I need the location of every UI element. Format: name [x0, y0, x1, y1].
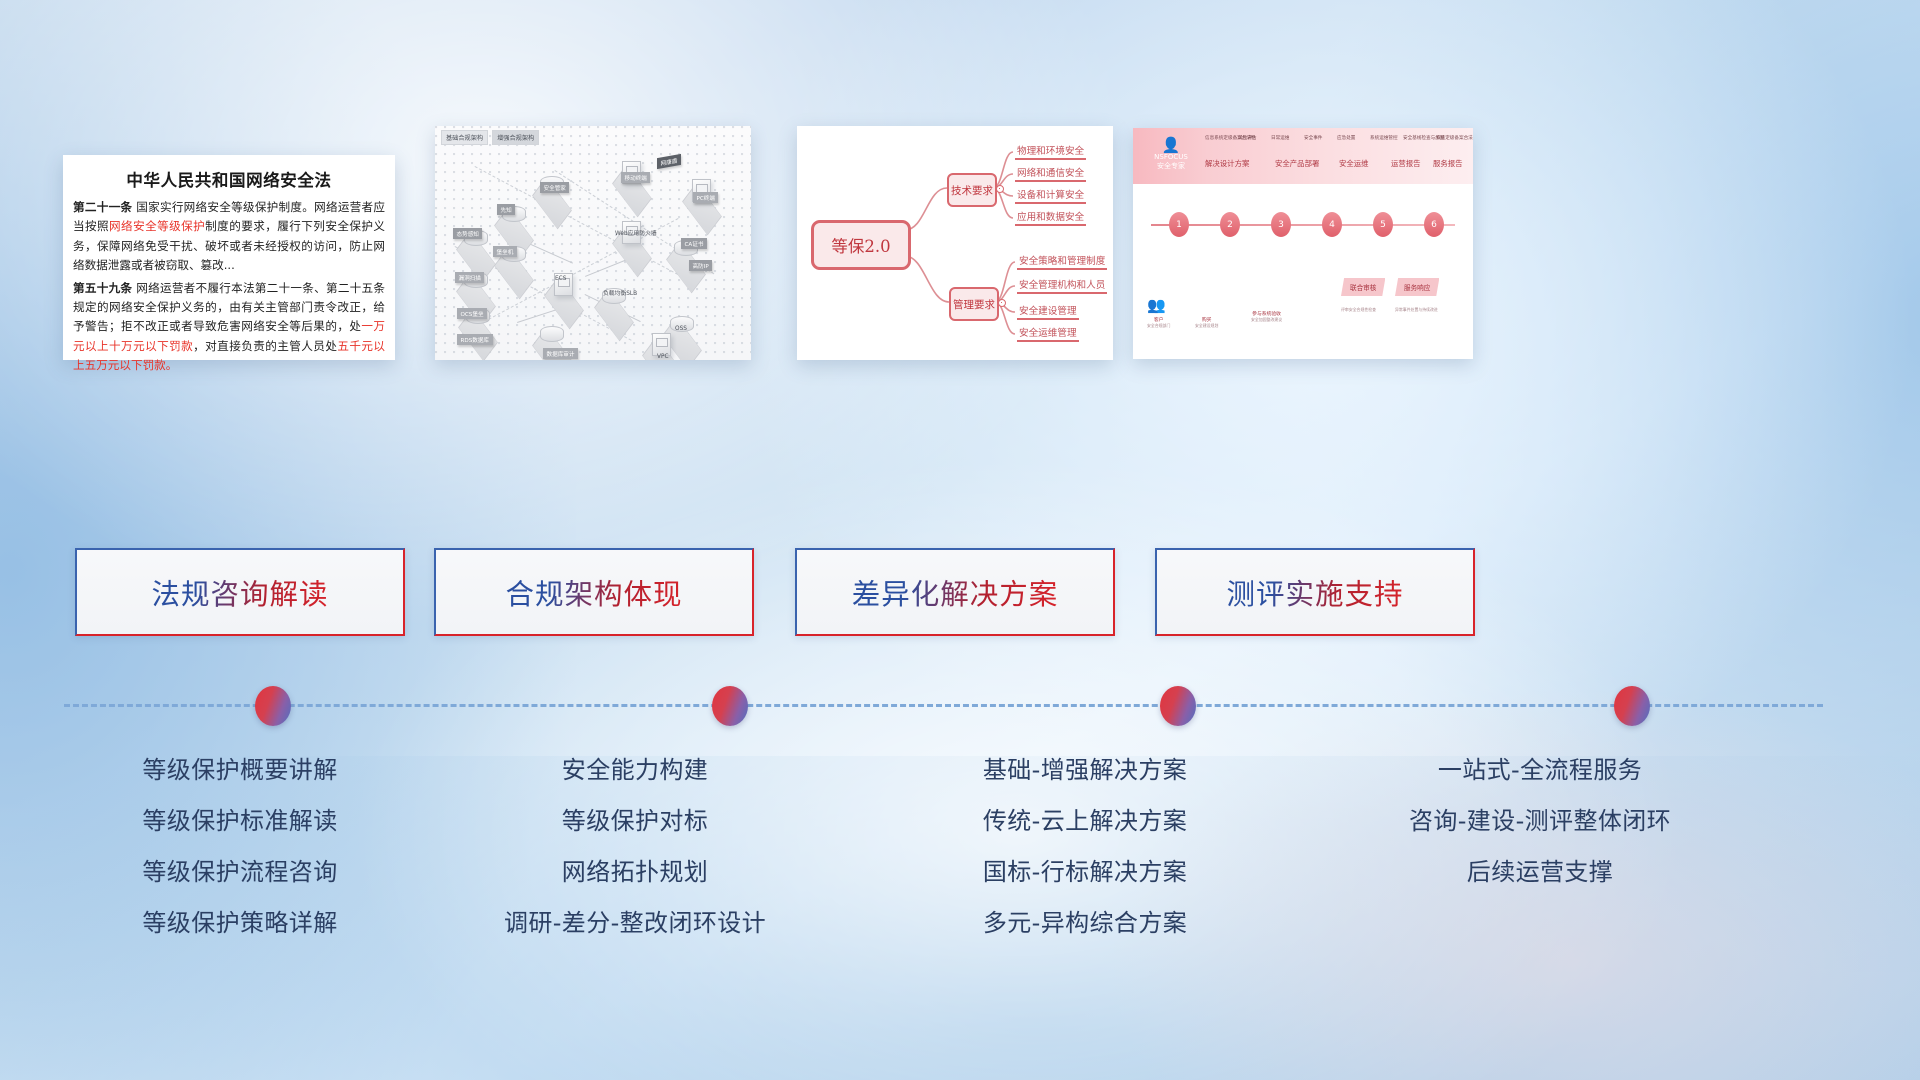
detail-list: 基础-增强解决方案 传统-云上解决方案 国标-行标解决方案 多元-异构综合方案 — [905, 745, 1265, 949]
detail-column-regulation-consulting: 等级保护概要讲解 等级保护标准解读 等级保护流程咨询 等级保护策略详解 — [60, 745, 420, 949]
timeline-dot-4[interactable] — [1614, 686, 1650, 726]
detail-column-assessment-support: 一站式-全流程服务 咨询-建设-测评整体闭环 后续运营支撑 — [1350, 745, 1730, 898]
pillar-detail-columns: 等级保护概要讲解 等级保护标准解读 等级保护流程咨询 等级保护策略详解 安全能力… — [0, 0, 1920, 1080]
detail-item: 调研-差分-整改闭环设计 — [455, 898, 815, 949]
detail-item: 一站式-全流程服务 — [1350, 745, 1730, 796]
detail-item: 咨询-建设-测评整体闭环 — [1350, 796, 1730, 847]
detail-list: 安全能力构建 等级保护对标 网络拓扑规划 调研-差分-整改闭环设计 — [455, 745, 815, 949]
detail-item: 安全能力构建 — [455, 745, 815, 796]
detail-item: 基础-增强解决方案 — [905, 745, 1265, 796]
detail-item: 后续运营支撑 — [1350, 847, 1730, 898]
detail-item: 等级保护标准解读 — [60, 796, 420, 847]
detail-item: 多元-异构综合方案 — [905, 898, 1265, 949]
timeline-dot-1[interactable] — [255, 686, 291, 726]
detail-item: 网络拓扑规划 — [455, 847, 815, 898]
detail-list: 一站式-全流程服务 咨询-建设-测评整体闭环 后续运营支撑 — [1350, 745, 1730, 898]
detail-item: 国标-行标解决方案 — [905, 847, 1265, 898]
detail-column-compliance-architecture: 安全能力构建 等级保护对标 网络拓扑规划 调研-差分-整改闭环设计 — [455, 745, 815, 949]
detail-item: 等级保护概要讲解 — [60, 745, 420, 796]
detail-item: 等级保护流程咨询 — [60, 847, 420, 898]
detail-list: 等级保护概要讲解 等级保护标准解读 等级保护流程咨询 等级保护策略详解 — [60, 745, 420, 949]
detail-column-differentiated-solution: 基础-增强解决方案 传统-云上解决方案 国标-行标解决方案 多元-异构综合方案 — [905, 745, 1265, 949]
timeline-dot-3[interactable] — [1160, 686, 1196, 726]
timeline-dot-2[interactable] — [712, 686, 748, 726]
detail-item: 等级保护策略详解 — [60, 898, 420, 949]
detail-item: 等级保护对标 — [455, 796, 815, 847]
detail-item: 传统-云上解决方案 — [905, 796, 1265, 847]
